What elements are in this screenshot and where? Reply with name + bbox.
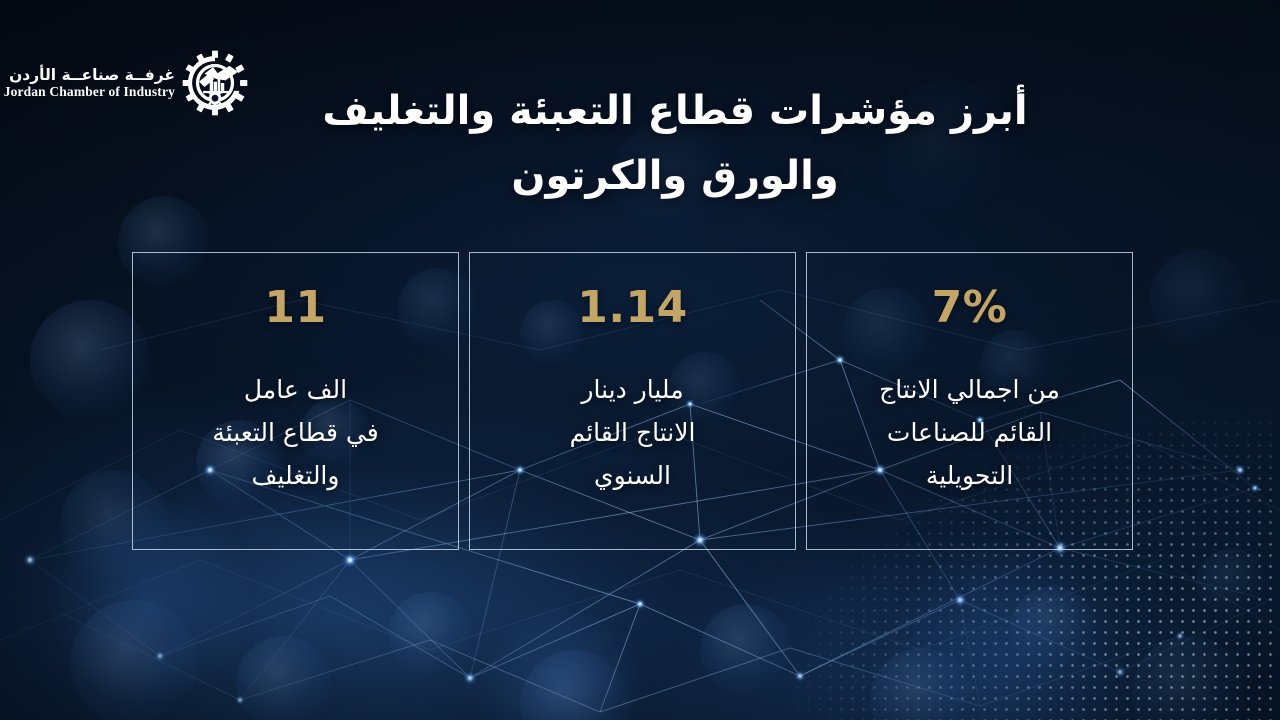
stat-label: الف عامل في قطاع التعبئة والتغليف: [212, 368, 378, 497]
stat-card-production-share: 7% من اجمالي الانتاج القائم للصناعات الت…: [806, 252, 1133, 550]
stat-label-line: القائم للصناعات: [887, 418, 1052, 447]
page-title-line-1: أبرز مؤشرات قطاع التعبئة والتغليف: [260, 79, 1090, 144]
logo-english-name: Jordan Chamber of Industry: [4, 85, 175, 99]
stat-label-line: التحويلية: [926, 461, 1013, 490]
stat-label-line: الانتاج القائم: [570, 418, 696, 447]
page-title: أبرز مؤشرات قطاع التعبئة والتغليف والورق…: [260, 79, 1090, 209]
jordan-chamber-of-industry-logo: غرفــة صناعــة الأردن Jordan Chamber of …: [18, 42, 248, 124]
stat-label-line: مليار دينار: [581, 375, 683, 404]
stat-label: مليار دينار الانتاج القائم السنوي: [570, 368, 696, 497]
stat-label: من اجمالي الانتاج القائم للصناعات التحوي…: [879, 368, 1060, 497]
stat-value: 11: [264, 286, 326, 330]
logo-text: غرفــة صناعــة الأردن Jordan Chamber of …: [4, 67, 175, 99]
stat-label-line: في قطاع التعبئة: [212, 418, 378, 447]
page-title-line-2: والورق والكرتون: [260, 144, 1090, 209]
stat-label-line: والتغليف: [252, 461, 340, 490]
stat-value: 1.14: [577, 286, 688, 330]
statistics-cards: 7% من اجمالي الانتاج القائم للصناعات الت…: [132, 252, 1133, 550]
stat-label-line: الف عامل: [244, 375, 347, 404]
stat-card-annual-production: 1.14 مليار دينار الانتاج القائم السنوي: [469, 252, 796, 550]
stat-card-workers: 11 الف عامل في قطاع التعبئة والتغليف: [132, 252, 459, 550]
gear-hand-factory-emblem-icon: [182, 50, 248, 116]
stat-value: 7%: [932, 286, 1008, 330]
infographic-slide: غرفــة صناعــة الأردن Jordan Chamber of …: [0, 0, 1280, 720]
stat-label-line: السنوي: [594, 461, 671, 490]
logo-arabic-name: غرفــة صناعــة الأردن: [4, 67, 175, 83]
stat-label-line: من اجمالي الانتاج: [879, 375, 1060, 404]
